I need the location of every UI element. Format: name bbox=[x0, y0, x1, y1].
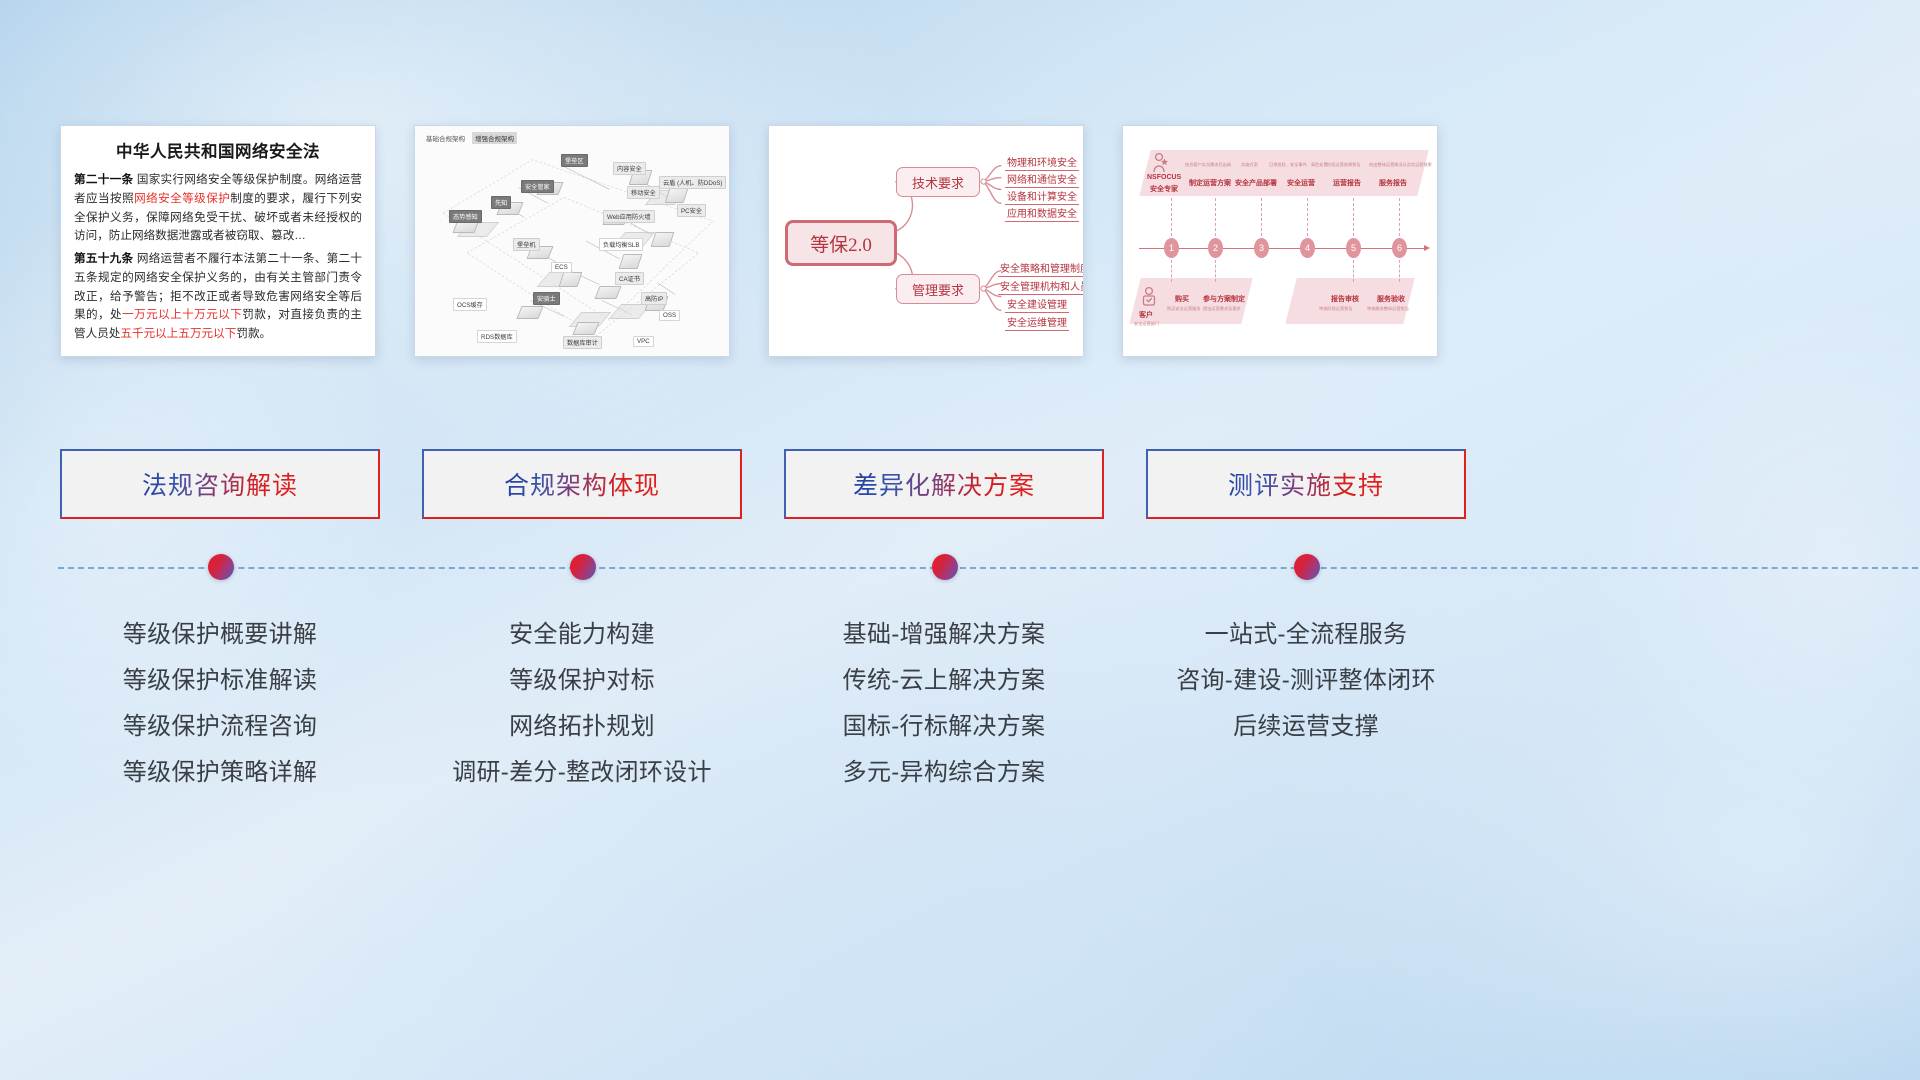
mindmap-leaf-device-compute: 设备和计算安全 bbox=[1005, 188, 1079, 205]
mindmap-leaf-network-comm: 网络和通信安全 bbox=[1005, 171, 1079, 188]
nsfocus-connector bbox=[1171, 260, 1172, 282]
card-nsfocus-service-timeline: NSFOCUS 安全专家 结合客户实况需求后出具 制定运营方案 实施方案 安全产… bbox=[1122, 125, 1438, 357]
law-article-59: 第五十九条 网络运营者不履行本法第二十一条、第二十五条规定的网络安全保护义务的，… bbox=[74, 250, 362, 344]
mindmap-leaf-operation: 安全运维管理 bbox=[1005, 314, 1069, 331]
nsfocus-top-sub-1: 结合客户实况需求后出具 bbox=[1185, 162, 1231, 168]
arch-node-label-pc-sec: PC安全 bbox=[677, 204, 706, 217]
nsfocus-top-band bbox=[1139, 150, 1428, 196]
nsfocus-connector bbox=[1171, 198, 1172, 236]
nsfocus-top-label-3: 安全运营 bbox=[1287, 178, 1315, 188]
customer-label-sub: 安全运营部门 bbox=[1134, 321, 1159, 327]
list-item: 传统-云上解决方案 bbox=[843, 658, 1046, 704]
customer-label: 客户 bbox=[1139, 310, 1153, 320]
nsfocus-top-sub-2: 实施方案 bbox=[1241, 162, 1258, 168]
arch-node-label-xianzhi: 先知 bbox=[491, 196, 511, 209]
arch-node-label-anti-ddos-ip: 高防IP bbox=[641, 292, 667, 305]
image-card-row: 中华人民共和国网络安全法 第二十一条 国家实行网络安全等级保护制度。网络运营者应… bbox=[60, 125, 1860, 365]
nsfocus-top-label-2: 安全产品部署 bbox=[1235, 178, 1277, 188]
timeline-marker-2[interactable] bbox=[570, 554, 596, 580]
card-cybersecurity-law: 中华人民共和国网络安全法 第二十一条 国家实行网络安全等级保护制度。网络运营者应… bbox=[60, 125, 376, 357]
arch-node-label-anqishi: 安骑士 bbox=[533, 292, 560, 305]
arch-node-label-taishiganzhi: 态势感知 bbox=[449, 210, 482, 223]
mindmap-branch-technical: 技术要求 bbox=[896, 167, 980, 197]
section-header-compliance-architecture[interactable]: 合规架构体现 bbox=[422, 449, 742, 519]
nsfocus-connector bbox=[1261, 198, 1262, 236]
nsfocus-connector bbox=[1353, 260, 1354, 282]
list-item: 咨询-建设-测评整体闭环 bbox=[1176, 658, 1436, 704]
law-article-21-label: 第二十一条 bbox=[74, 173, 133, 186]
list-item: 调研-差分-整改闭环设计 bbox=[452, 750, 712, 796]
mindmap-leaf-org-personnel: 安全管理机构和人员 bbox=[998, 278, 1084, 295]
list-item: 等级保护对标 bbox=[509, 658, 655, 704]
mindmap-leaf-physical-env: 物理和环境安全 bbox=[1005, 154, 1079, 171]
arch-node-label-mobile-sec: 移动安全 bbox=[627, 186, 660, 199]
slide-canvas: 中华人民共和国网络安全法 第二十一条 国家实行网络安全等级保护制度。网络运营者应… bbox=[0, 0, 1920, 1080]
list-item: 基础-增强解决方案 bbox=[843, 612, 1046, 658]
nsfocus-top-sub-4: 阶段运营效果报告 bbox=[1327, 162, 1361, 168]
card-cloud-architecture: 基础合规架构 增强合规架构 bbox=[414, 125, 730, 357]
list-item: 一站式-全流程服务 bbox=[1205, 612, 1408, 658]
nsfocus-bottom-sub-2: 提出运营需求及要求 bbox=[1203, 306, 1241, 312]
column-differentiated-solution: 基础-增强解决方案 传统-云上解决方案 国标-行标解决方案 多元-异构综合方案 bbox=[784, 600, 1104, 796]
arch-node-label-yundun: 云盾 (人机、防DDoS) bbox=[659, 176, 726, 189]
law-document-title: 中华人民共和国网络安全法 bbox=[74, 138, 362, 162]
list-item: 网络拓扑规划 bbox=[509, 704, 655, 750]
nsfocus-connector bbox=[1399, 198, 1400, 236]
nsfocus-bottom-sub-3: 审核阶段运营报告 bbox=[1319, 306, 1353, 312]
nsfocus-connector bbox=[1307, 198, 1308, 236]
nsfocus-connector bbox=[1215, 260, 1216, 282]
nsfocus-bottom-label-4: 服务验收 bbox=[1377, 294, 1405, 304]
nsfocus-step-number-1: 1 bbox=[1164, 238, 1179, 258]
arch-node-label-oss: OSS bbox=[659, 310, 680, 321]
list-item: 多元-异构综合方案 bbox=[843, 750, 1046, 796]
nsfocus-step-number-3: 3 bbox=[1254, 238, 1269, 258]
list-item: 等级保护概要讲解 bbox=[123, 612, 317, 658]
mindmap-root-node: 等保2.0 bbox=[785, 220, 897, 266]
column-assessment-support: 一站式-全流程服务 咨询-建设-测评整体闭环 后续运营支撑 bbox=[1146, 600, 1466, 796]
nsfocus-brand-sub: 安全专家 bbox=[1150, 184, 1178, 194]
list-item: 后续运营支撑 bbox=[1233, 704, 1379, 750]
nsfocus-bottom-label-1: 购买 bbox=[1175, 294, 1189, 304]
section-header-assessment-support[interactable]: 测评实施支持 bbox=[1146, 449, 1466, 519]
timeline-dashed-line bbox=[58, 567, 1918, 569]
nsfocus-connector bbox=[1399, 260, 1400, 282]
law-article-59-post: 罚款。 bbox=[236, 327, 271, 340]
arch-node-label-waf: Web应用防火墙 bbox=[603, 210, 655, 223]
list-item: 等级保护流程咨询 bbox=[123, 704, 317, 750]
arch-node-label-anquanguanjia: 安全管家 bbox=[521, 180, 554, 193]
timeline-marker-1[interactable] bbox=[208, 554, 234, 580]
section-header-label: 差异化解决方案 bbox=[853, 466, 1035, 502]
nsfocus-bottom-label-2: 参与方案制定 bbox=[1203, 294, 1245, 304]
timeline-marker-3[interactable] bbox=[932, 554, 958, 580]
customer-person-icon bbox=[1141, 286, 1157, 308]
arch-node-label-ecs: ECS bbox=[551, 262, 572, 273]
arch-node-label-rds-database: RDS数据库 bbox=[477, 330, 517, 343]
nsfocus-bottom-sub-4: 审核服务整体运营报告 bbox=[1367, 306, 1409, 312]
section-header-regulation-consulting[interactable]: 法规咨询解读 bbox=[60, 449, 380, 519]
law-article-59-label: 第五十九条 bbox=[74, 252, 133, 265]
card-mindmap-dengbao: 等保2.0 技术要求 物理和环境安全 网络和通信安全 设备和计算安全 应用和数据… bbox=[768, 125, 1084, 357]
section-header-label: 测评实施支持 bbox=[1228, 466, 1384, 502]
list-item: 等级保护标准解读 bbox=[123, 658, 317, 704]
law-article-21: 第二十一条 国家实行网络安全等级保护制度。网络运营者应当按照网络安全等级保护制度… bbox=[74, 171, 362, 246]
nsfocus-top-label-4: 运营报告 bbox=[1333, 178, 1361, 188]
section-header-label: 合规架构体现 bbox=[504, 466, 660, 502]
law-article-21-highlight: 网络安全等级保护 bbox=[134, 192, 230, 205]
arch-node-label-db-audit: 数据库审计 bbox=[563, 336, 602, 349]
timeline-track bbox=[58, 566, 1918, 570]
nsfocus-step-number-5: 5 bbox=[1346, 238, 1361, 258]
section-content-columns: 等级保护概要讲解 等级保护标准解读 等级保护流程咨询 等级保护策略详解 安全能力… bbox=[60, 600, 1860, 796]
nsfocus-top-sub-5: 给出整体运营情况以及实运营效果 bbox=[1369, 162, 1432, 168]
nsfocus-bottom-sub-1: 购买安全运营服务 bbox=[1167, 306, 1201, 312]
section-header-label: 法规咨询解读 bbox=[142, 466, 298, 502]
expert-person-icon bbox=[1151, 152, 1169, 174]
timeline-marker-4[interactable] bbox=[1294, 554, 1320, 580]
arch-node-label-baoleiqu: 堡垒区 bbox=[561, 154, 588, 167]
nsfocus-step-number-2: 2 bbox=[1208, 238, 1223, 258]
arch-node-label-vpc: VPC bbox=[633, 336, 654, 347]
nsfocus-brand: NSFOCUS bbox=[1147, 174, 1181, 181]
list-item: 安全能力构建 bbox=[509, 612, 655, 658]
section-header-row: 法规咨询解读 合规架构体现 差异化解决方案 测评实施支持 bbox=[60, 449, 1860, 519]
law-article-59-highlight-1: 一万元以上十万元以下 bbox=[122, 308, 242, 321]
nsfocus-connector bbox=[1215, 198, 1216, 236]
law-article-59-highlight-2: 五千元以上五万元以下 bbox=[120, 327, 236, 340]
mindmap-leaf-app-data: 应用和数据安全 bbox=[1005, 205, 1079, 222]
mindmap-branch-management: 管理要求 bbox=[896, 274, 980, 304]
nsfocus-bottom-label-3: 报告审核 bbox=[1331, 294, 1359, 304]
list-item: 国标-行标解决方案 bbox=[843, 704, 1046, 750]
nsfocus-top-sub-3: 日常巡检、安全事件、高危处置 bbox=[1269, 162, 1328, 168]
nsfocus-step-number-4: 4 bbox=[1300, 238, 1315, 258]
arch-node-label-ca-cert: CA证书 bbox=[615, 272, 644, 285]
list-item: 等级保护策略详解 bbox=[123, 750, 317, 796]
nsfocus-step-number-6: 6 bbox=[1392, 238, 1407, 258]
section-header-differentiated-solution[interactable]: 差异化解决方案 bbox=[784, 449, 1104, 519]
arch-node-label-slb: 负载均衡SLB bbox=[599, 238, 643, 251]
arch-node-label-content-sec: 内容安全 bbox=[613, 162, 646, 175]
arch-node-label-baoleiji: 堡垒机 bbox=[513, 238, 540, 251]
column-regulation-consulting: 等级保护概要讲解 等级保护标准解读 等级保护流程咨询 等级保护策略详解 bbox=[60, 600, 380, 796]
nsfocus-timeline-axis bbox=[1139, 248, 1425, 249]
nsfocus-connector bbox=[1353, 198, 1354, 236]
nsfocus-top-label-1: 制定运营方案 bbox=[1189, 178, 1231, 188]
mindmap-leaf-construction: 安全建设管理 bbox=[1005, 296, 1069, 313]
column-compliance-architecture: 安全能力构建 等级保护对标 网络拓扑规划 调研-差分-整改闭环设计 bbox=[422, 600, 742, 796]
arch-node-label-ocs-cache: OCS缓存 bbox=[453, 298, 487, 311]
nsfocus-top-label-5: 服务报告 bbox=[1379, 178, 1407, 188]
mindmap-leaf-policy-system: 安全策略和管理制度 bbox=[998, 260, 1084, 277]
